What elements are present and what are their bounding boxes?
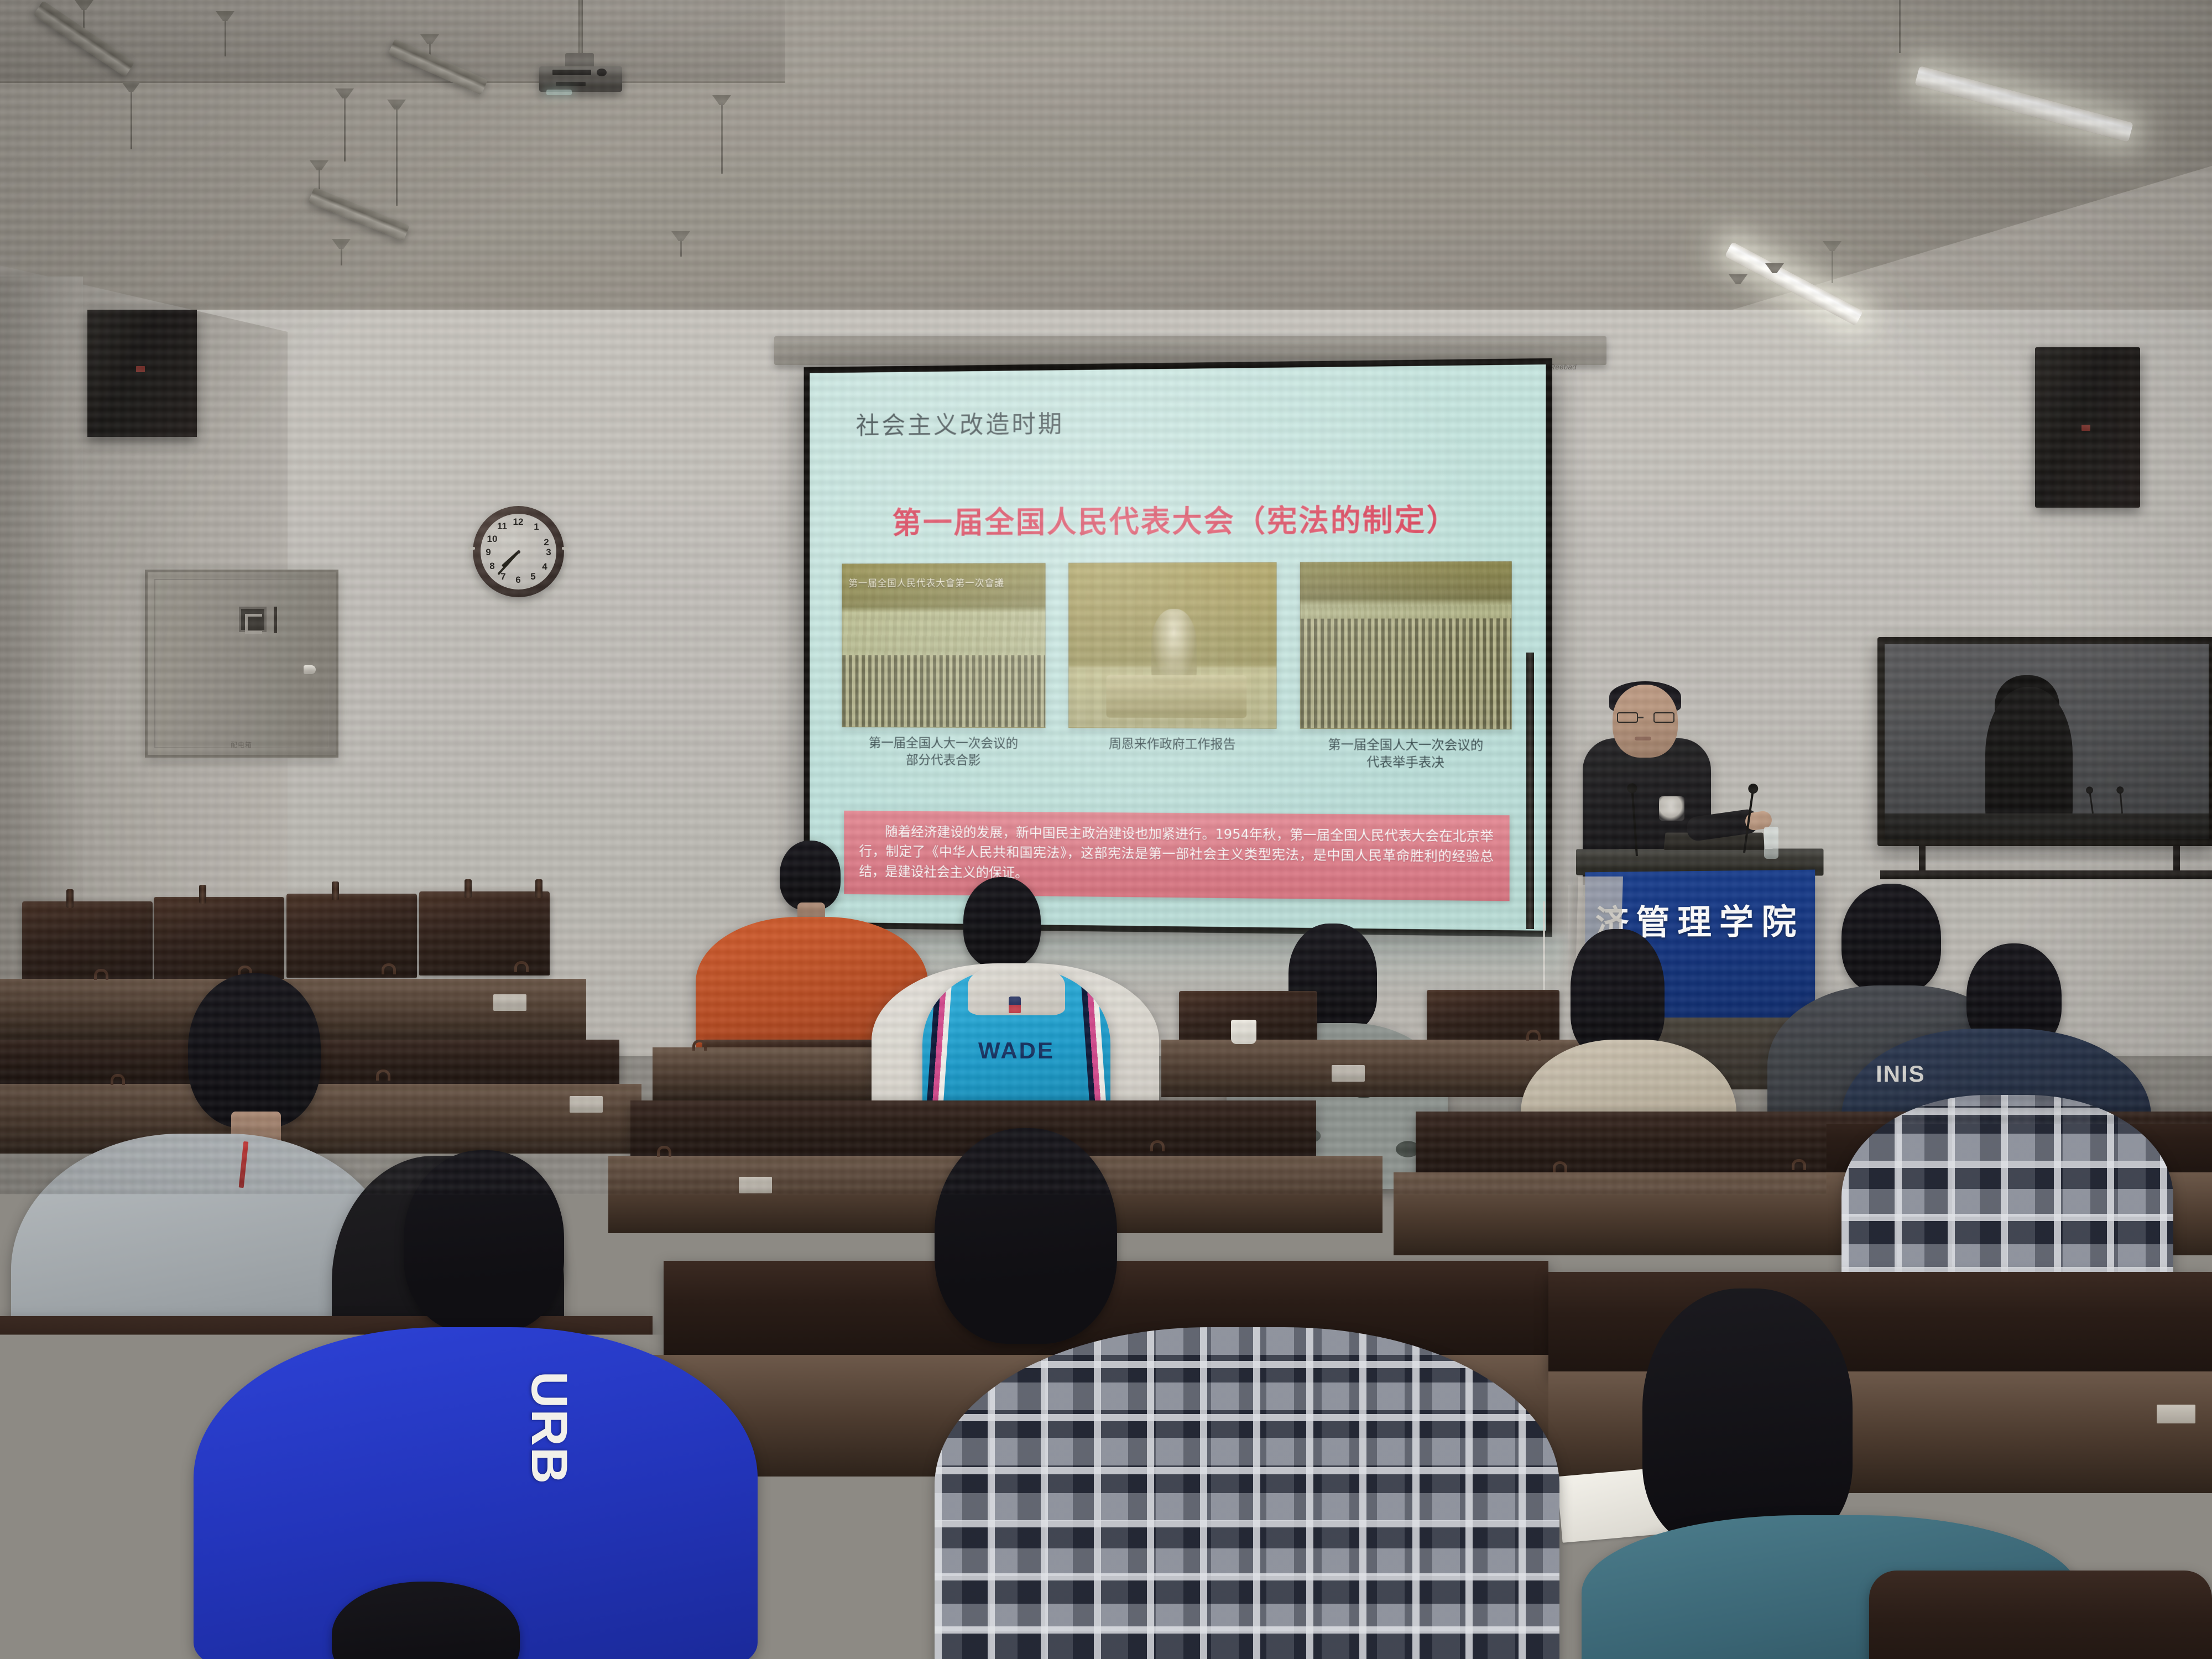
student-hair — [1642, 1288, 1853, 1548]
lecture-hall-photograph: 12 1 2 3 4 5 6 7 8 9 10 11 配电箱 Reebad 社会… — [0, 0, 2212, 1659]
slide-photo-cell: 周恩来作政府工作报告 — [1069, 562, 1276, 753]
bag-hook[interactable] — [94, 969, 108, 980]
seat-post — [199, 885, 206, 904]
right-wall-speaker — [2035, 347, 2140, 508]
cabinet-plate-text: 配电箱 — [231, 740, 252, 749]
seat-back[interactable] — [154, 897, 284, 981]
cabinet-panel-frame — [154, 579, 329, 748]
light-stem — [721, 102, 723, 174]
slide-photo-row: 第一届全国人民代表大會第一次會議 第一届全国人大一次会议的部分代表合影 周恩来作… — [842, 561, 1511, 772]
monitor-stand-left — [1919, 846, 1926, 872]
paper-cup[interactable] — [1231, 1020, 1256, 1044]
seat-post — [465, 879, 472, 898]
student-head — [780, 841, 841, 910]
bag-hook[interactable] — [1526, 1030, 1541, 1041]
bag-hook[interactable] — [1150, 1140, 1165, 1151]
slide-canvas: 社会主义改造时期 第一届全国人民代表大会（宪法的制定） 第一届全国人民代表大會第… — [810, 364, 1546, 931]
photo-caption-1: 第一届全国人大一次会议的部分代表合影 — [842, 735, 1045, 770]
seat-number-plate — [739, 1177, 772, 1193]
seat-number-plate — [1332, 1065, 1365, 1082]
light-stem — [131, 88, 132, 149]
slide-kicker: 社会主义改造时期 — [856, 404, 1065, 441]
student-head — [1841, 884, 1941, 994]
monitor-shelf — [1880, 870, 2212, 879]
student-head — [188, 973, 321, 1128]
seat-number-plate — [570, 1096, 603, 1113]
seat-post — [535, 879, 542, 898]
projection-screen: 社会主义改造时期 第一届全国人民代表大会（宪法的制定） 第一届全国人民代表大會第… — [804, 358, 1552, 937]
slide-body-text: 随着经济建设的发展，新中国民主政治建设也加紧进行。1954年秋，第一届全国人民代… — [859, 821, 1493, 887]
bench-desk — [1161, 1040, 1582, 1097]
monitor-feed-person — [1985, 687, 2073, 827]
clock-numeral: 10 — [486, 534, 498, 545]
light-stem — [341, 246, 342, 265]
clock-numeral: 1 — [530, 521, 542, 533]
projector-lens — [546, 90, 572, 95]
student-head — [963, 877, 1041, 968]
historical-photo-1: 第一届全国人民代表大會第一次會議 — [842, 563, 1045, 728]
water-bottle[interactable] — [1764, 827, 1778, 859]
foreground-chair — [1869, 1571, 2212, 1659]
bag-hook[interactable] — [111, 1074, 125, 1085]
clock-numeral: 6 — [512, 575, 524, 586]
cabinet-view-window — [239, 607, 267, 632]
slide-photo-cell: 第一届全国人民代表大會第一次會議 第一届全国人大一次会议的部分代表合影 — [842, 563, 1045, 770]
seat-back[interactable] — [286, 894, 417, 978]
monitor-feed-microphone — [2089, 792, 2094, 813]
clock-numeral: 9 — [482, 547, 494, 558]
jersey-league-logo — [1009, 997, 1021, 1013]
speaker-logo — [136, 366, 145, 372]
photo-crowd — [1301, 619, 1511, 729]
bag-hook[interactable] — [514, 961, 529, 972]
photo-speaker-figure — [1151, 609, 1197, 685]
lecturer-shirt-logo — [1659, 796, 1684, 821]
lecturer-glasses — [1617, 712, 1674, 723]
left-wall-speaker — [87, 310, 197, 437]
photo-crowd — [842, 655, 1045, 728]
microphone-stand-pole — [1526, 653, 1534, 929]
seat-number-plate — [493, 994, 526, 1011]
monitor-screen — [1885, 644, 2209, 839]
bench-desk — [0, 1084, 641, 1154]
photo-caption-2: 周恩来作政府工作报告 — [1069, 735, 1276, 753]
photo-podium — [1106, 675, 1246, 718]
light-stem — [680, 238, 682, 257]
electrical-cabinet[interactable]: 配电箱 — [145, 570, 338, 758]
light-stem — [396, 106, 398, 206]
student-head — [404, 1150, 564, 1333]
cabinet-slot — [274, 607, 277, 633]
projector-mount-pole — [578, 0, 583, 55]
cabinet-latch[interactable] — [304, 665, 316, 674]
clock-numeral: 3 — [542, 547, 555, 558]
clock-numeral: 8 — [486, 561, 498, 572]
jacket-print-text: INIS — [1876, 1061, 1926, 1087]
bag-hook[interactable] — [376, 1070, 390, 1081]
clock-face: 12 1 2 3 4 5 6 7 8 9 10 11 — [481, 514, 556, 589]
student-hair — [1571, 929, 1665, 1056]
light-stem — [344, 95, 346, 161]
photo-banner-text: 第一届全国人民代表大會第一次會議 — [848, 575, 1039, 589]
seat-post — [332, 881, 339, 900]
jacket-print-text: URB — [520, 1371, 578, 1485]
bag-hook[interactable] — [657, 1146, 671, 1157]
clock-numeral: 4 — [539, 561, 551, 572]
monitor-feed-microphone — [2119, 792, 2122, 813]
projector — [539, 66, 622, 92]
slide-title: 第一届全国人民代表大会（宪法的制定） — [810, 495, 1546, 542]
bench-row — [1548, 1272, 2212, 1377]
lecturer-mouth — [1635, 737, 1651, 740]
slide-photo-cell: 第一届全国人大一次会议的代表举手表决 — [1300, 561, 1512, 772]
clock-numeral: 2 — [540, 537, 552, 548]
slide-highlight-box: 随着经济建设的发展，新中国民主政治建设也加紧进行。1954年秋，第一届全国人民代… — [844, 810, 1509, 901]
clock-numeral: 11 — [496, 521, 508, 532]
speaker-logo — [2081, 425, 2090, 431]
foreground-chair — [1139, 1587, 1747, 1659]
jersey-name-text: WADE — [922, 1037, 1110, 1064]
wall-clock: 12 1 2 3 4 5 6 7 8 9 10 11 — [473, 506, 564, 597]
clock-center-pin — [517, 550, 520, 554]
clock-numeral: 5 — [527, 571, 539, 582]
historical-photo-2 — [1069, 562, 1276, 728]
clock-numeral: 12 — [512, 517, 524, 528]
photo-caption-3: 第一届全国人大一次会议的代表举手表决 — [1300, 737, 1512, 772]
bag-hook[interactable] — [692, 1040, 707, 1051]
student-head — [935, 1128, 1117, 1344]
monitor-stand-right — [2173, 846, 2180, 872]
clock-lug — [562, 547, 568, 550]
light-stem — [225, 18, 226, 56]
bag-hook[interactable] — [382, 963, 396, 974]
clock-lug — [468, 547, 475, 550]
screen-brand-mark: Reebad — [1550, 363, 1577, 371]
seat-back[interactable] — [419, 891, 550, 975]
historical-photo-3 — [1300, 561, 1512, 729]
seat-number-plate — [2157, 1405, 2195, 1423]
seat-post — [66, 889, 74, 908]
light-stem — [1832, 249, 1833, 283]
monitor-feed-desk — [1885, 813, 2209, 839]
bag-hook[interactable] — [1792, 1159, 1806, 1170]
light-stem — [1899, 0, 1901, 53]
seat-back[interactable] — [22, 901, 153, 984]
wall-monitor — [1877, 637, 2212, 846]
bag-hook[interactable] — [1553, 1161, 1567, 1172]
